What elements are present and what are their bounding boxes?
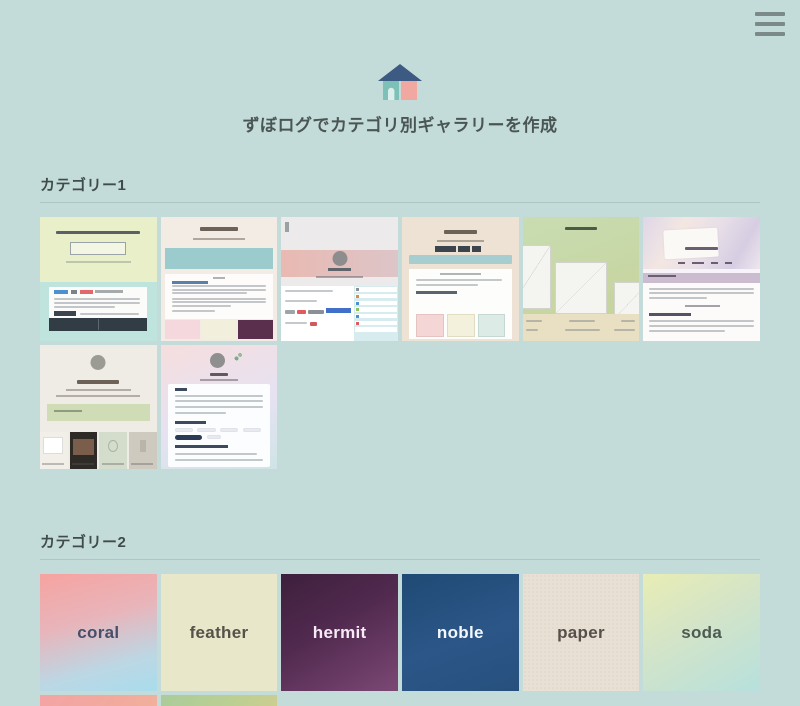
swatch-rose[interactable] (40, 695, 157, 706)
site-header: ずぼログでカテゴリ別ギャラリーを作成 (0, 0, 800, 136)
swatch-label-hermit: hermit (313, 623, 367, 643)
swatch-soda[interactable]: soda (643, 574, 760, 691)
category-1-title: カテゴリー1 (40, 174, 760, 203)
thumbnail-watashi-pink-template[interactable] (161, 345, 278, 469)
category-2-grid: coral feather hermit noble paper soda (40, 574, 760, 706)
thumbnail-tegami-template[interactable] (161, 217, 278, 341)
page-root: ずぼログでカテゴリ別ギャラリーを作成 カテゴリー1 (0, 0, 800, 706)
thumbnail-event-title-template[interactable] (40, 217, 157, 341)
house-icon (377, 62, 423, 102)
swatch-hermit[interactable]: hermit (281, 574, 398, 691)
swatch-label-coral: coral (77, 623, 119, 643)
swatch-noble[interactable]: noble (402, 574, 519, 691)
category-1-grid (40, 217, 760, 469)
swatch-label-paper: paper (557, 623, 605, 643)
swatch-label-noble: noble (437, 623, 484, 643)
swatch-label-soda: soda (681, 623, 722, 643)
swatch-moss[interactable] (161, 695, 278, 706)
page-title: ずぼログでカテゴリ別ギャラリーを作成 (0, 116, 800, 136)
swatch-coral[interactable]: coral (40, 574, 157, 691)
swatch-label-feather: feather (190, 623, 249, 643)
hamburger-bar-2 (755, 22, 785, 26)
thumbnail-profile-gray-template[interactable] (281, 217, 398, 341)
thumbnail-books-template[interactable] (523, 217, 640, 341)
thumbnail-tegami-search-template[interactable] (402, 217, 519, 341)
thumbnail-tegaiite-photo-template[interactable] (643, 217, 760, 341)
hamburger-bar-1 (755, 12, 785, 16)
category-1-section: カテゴリー1 (0, 174, 800, 469)
category-2-title: カテゴリー2 (40, 531, 760, 560)
swatch-feather[interactable]: feather (161, 574, 278, 691)
hamburger-bar-3 (755, 32, 785, 36)
thumbnail-tegami-profile-template[interactable] (40, 345, 157, 469)
swatch-paper[interactable]: paper (523, 574, 640, 691)
hamburger-menu-icon[interactable] (755, 12, 785, 36)
category-2-section: カテゴリー2 coral feather hermit noble paper … (0, 531, 800, 706)
